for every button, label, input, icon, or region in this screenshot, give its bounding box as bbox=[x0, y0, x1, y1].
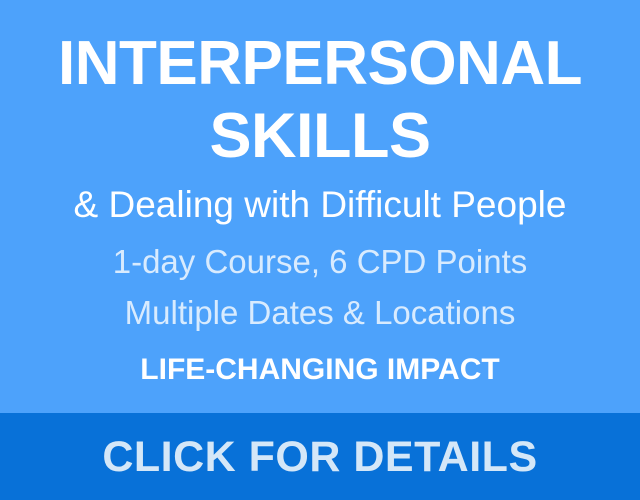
detail-line-course: 1-day Course, 6 CPD Points bbox=[0, 236, 640, 287]
detail-line-dates-locations: Multiple Dates & Locations bbox=[0, 287, 640, 338]
impact-statement: LIFE-CHANGING IMPACT bbox=[0, 350, 640, 390]
headline-line-1: INTERPERSONAL bbox=[0, 28, 640, 100]
advertisement-banner[interactable]: INTERPERSONAL SKILLS & Dealing with Diff… bbox=[0, 0, 640, 500]
ad-content-area: INTERPERSONAL SKILLS & Dealing with Diff… bbox=[0, 0, 640, 413]
subheadline: & Dealing with Difficult People bbox=[0, 180, 640, 230]
cta-button[interactable]: CLICK FOR DETAILS bbox=[0, 413, 640, 500]
headline-line-2: SKILLS bbox=[0, 100, 640, 172]
cta-button-label: CLICK FOR DETAILS bbox=[102, 431, 537, 483]
